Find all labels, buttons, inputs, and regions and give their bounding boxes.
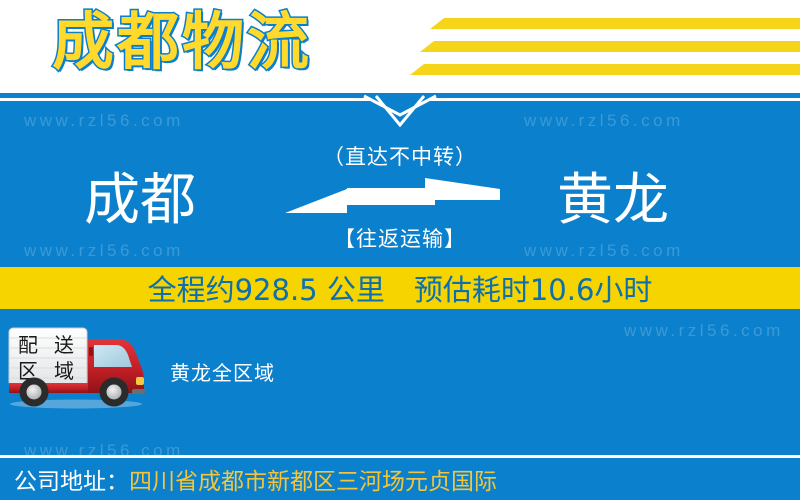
truck-box-char-1: 配: [18, 333, 38, 357]
divider-right: [430, 98, 800, 101]
decorative-stripe-3: [410, 64, 800, 75]
truck-box-char-4: 域: [54, 359, 74, 383]
delivery-area-text: 黄龙全区域: [170, 357, 275, 386]
delivery-row: 配 送 区 域: [0, 325, 800, 411]
logistics-banner: 成都物流 www.rzl56.com www.rzl56.com www.rzl…: [0, 0, 800, 500]
banner-header: 成都物流: [0, 0, 800, 93]
route-note-direct: （直达不中转）: [0, 141, 800, 171]
company-address-value: 四川省成都市新都区三河场元贞国际: [129, 462, 497, 496]
route-note-roundtrip: 【往返运输】: [0, 223, 800, 253]
distance-text: 全程约928.5 公里 预估耗时10.6小时: [148, 267, 653, 309]
page-title: 成都物流: [52, 2, 312, 82]
watermark: www.rzl56.com: [524, 111, 684, 131]
distance-bar: 全程约928.5 公里 预估耗时10.6小时: [0, 267, 800, 309]
banner-body: www.rzl56.com www.rzl56.com www.rzl56.co…: [0, 93, 800, 500]
double-chevron-down-icon: [362, 93, 438, 127]
delivery-truck-icon: 配 送 区 域: [6, 325, 158, 409]
decorative-stripe-2: [420, 41, 800, 52]
truck-box-char-2: 送: [54, 333, 74, 357]
decorative-stripe-1: [430, 18, 800, 29]
watermark: www.rzl56.com: [24, 111, 184, 131]
bidirectional-arrow-icon: [285, 175, 500, 227]
divider-left: [0, 98, 370, 101]
footer: 公司地址： 四川省成都市新都区三河场元贞国际: [0, 458, 800, 500]
company-address-label: 公司地址：: [14, 462, 129, 496]
